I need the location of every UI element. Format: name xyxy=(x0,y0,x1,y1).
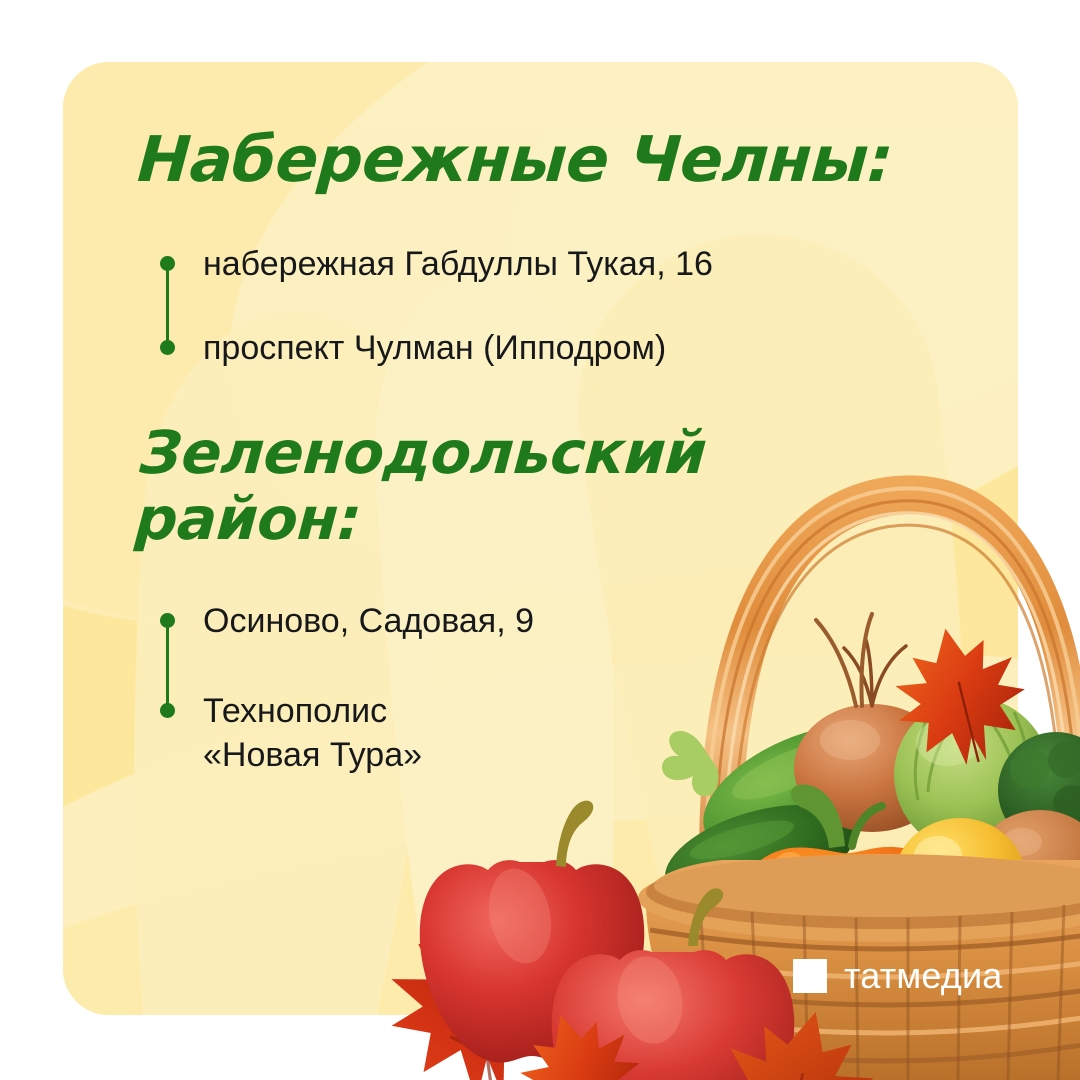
address-list-zelenodolsky-rayon: Осиново, Садовая, 9 Технополис «Новая Ту… xyxy=(160,600,534,777)
logo-wordmark: татмедиа xyxy=(844,958,1003,994)
section-heading-naberezhnye-chelny: Набережные Челны: xyxy=(136,128,895,191)
bullet-connector-line xyxy=(166,620,169,710)
tatmedia-logo[interactable]: татмедиа xyxy=(793,958,1003,994)
bullet-dot-icon xyxy=(160,703,175,718)
list-item[interactable]: Технополис «Новая Тура» xyxy=(160,690,534,777)
poster-stage: Набережные Челны: набережная Габдуллы Ту… xyxy=(0,0,1080,1080)
address-text: набережная Габдуллы Тукая, 16 xyxy=(203,243,713,287)
address-list-naberezhnye-chelny: набережная Габдуллы Тукая, 16 проспект Ч… xyxy=(160,243,713,373)
address-text: Осиново, Садовая, 9 xyxy=(203,600,534,644)
bullet-dot-icon xyxy=(160,340,175,355)
address-text: Технополис «Новая Тура» xyxy=(203,690,422,777)
bullet-dot-icon xyxy=(160,613,175,628)
address-text: проспект Чулман (Ипподром) xyxy=(203,327,666,371)
section-heading-zelenodolsky-rayon: Зеленодольский район: xyxy=(133,420,708,552)
bullet-connector-line xyxy=(166,263,169,347)
list-item[interactable]: набережная Габдуллы Тукая, 16 xyxy=(160,243,713,289)
list-item[interactable]: проспект Чулман (Ипподром) xyxy=(160,327,713,373)
poster-content: Набережные Челны: набережная Габдуллы Ту… xyxy=(0,0,1080,1080)
list-item[interactable]: Осиново, Садовая, 9 xyxy=(160,600,534,646)
bullet-dot-icon xyxy=(160,256,175,271)
white-square-icon xyxy=(793,959,827,993)
